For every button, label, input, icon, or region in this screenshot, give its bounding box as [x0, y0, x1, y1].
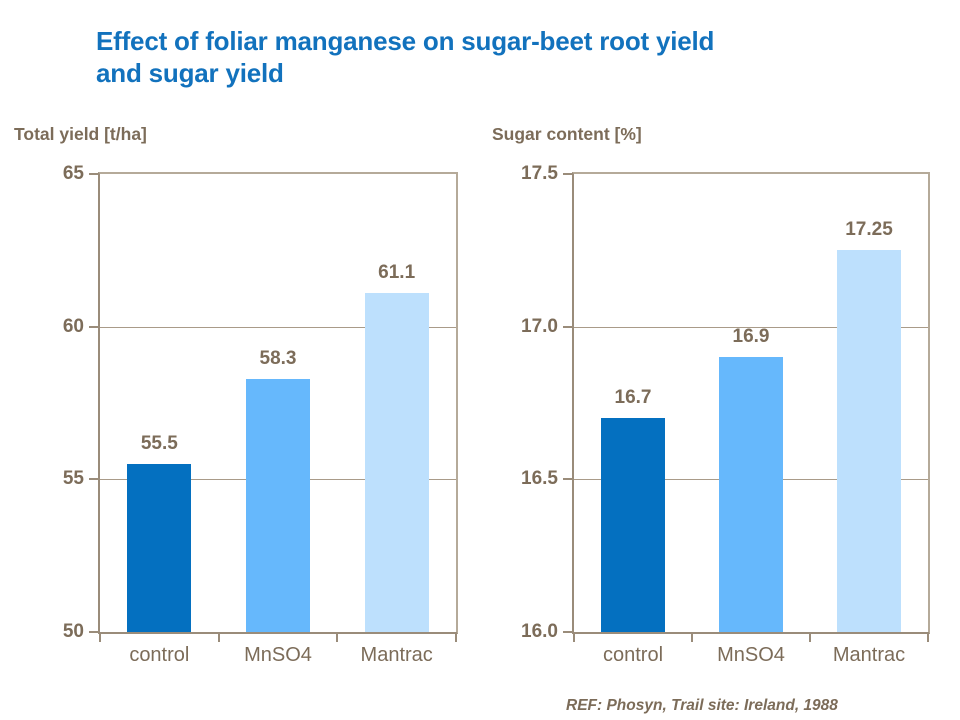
- bar-mnso4[interactable]: [246, 379, 310, 632]
- chart-title-total-yield: Total yield [t/ha]: [14, 124, 147, 145]
- bar-value-label: 55.5: [141, 433, 178, 455]
- slide-canvas: Effect of foliar manganese on sugar-beet…: [0, 0, 960, 720]
- y-axis-tick-mark: [563, 173, 572, 175]
- plot-inner-total-yield: 55.558.361.1: [100, 174, 456, 632]
- bar-value-label: 58.3: [260, 348, 297, 370]
- x-axis-tick-mark: [99, 632, 101, 642]
- x-axis-category-label: control: [603, 644, 663, 667]
- chart-panel-sugar-content: Sugar content [%] 16.716.917.25 16.016.5…: [480, 0, 960, 720]
- x-axis-tick-mark: [927, 632, 929, 642]
- bar-control[interactable]: [601, 418, 665, 632]
- plot-area-total-yield: 55.558.361.1: [98, 172, 458, 634]
- bar-value-label: 16.7: [615, 387, 652, 409]
- x-axis-tick-mark: [455, 632, 457, 642]
- chart-panel-total-yield: Total yield [t/ha] 55.558.361.1 50556065…: [0, 0, 500, 720]
- x-axis-tick-mark: [691, 632, 693, 642]
- bar-value-label: 17.25: [845, 219, 893, 241]
- bar-value-label: 16.9: [733, 326, 770, 348]
- y-axis-tick-mark: [89, 478, 98, 480]
- y-axis-tick-mark: [89, 326, 98, 328]
- bar-mantrac[interactable]: [837, 250, 901, 632]
- y-axis-tick-mark: [563, 326, 572, 328]
- y-axis-tick-label: 17.5: [521, 163, 558, 185]
- x-axis-category-label: MnSO4: [244, 644, 312, 667]
- x-axis-category-label: MnSO4: [717, 644, 785, 667]
- x-axis-tick-mark: [573, 632, 575, 642]
- y-axis-tick-label: 50: [63, 621, 84, 643]
- x-axis-category-label: control: [129, 644, 189, 667]
- bar-control[interactable]: [127, 464, 191, 632]
- chart-title-sugar-content: Sugar content [%]: [492, 124, 642, 145]
- bar-mnso4[interactable]: [719, 357, 783, 632]
- y-axis-tick-mark: [89, 631, 98, 633]
- y-axis-tick-label: 16.5: [521, 468, 558, 490]
- x-axis-tick-mark: [336, 632, 338, 642]
- y-axis-tick-mark: [89, 173, 98, 175]
- y-axis-tick-label: 55: [63, 468, 84, 490]
- bar-mantrac[interactable]: [365, 293, 429, 632]
- x-axis-category-label: Mantrac: [833, 644, 905, 667]
- y-axis-tick-label: 17.0: [521, 316, 558, 338]
- x-axis-tick-mark: [218, 632, 220, 642]
- y-axis-tick-mark: [563, 631, 572, 633]
- bar-value-label: 61.1: [378, 262, 415, 284]
- x-axis-tick-mark: [809, 632, 811, 642]
- x-axis-category-label: Mantrac: [361, 644, 433, 667]
- y-axis-tick-label: 65: [63, 163, 84, 185]
- plot-inner-sugar-content: 16.716.917.25: [574, 174, 928, 632]
- reference-note: REF: Phosyn, Trail site: Ireland, 1988: [566, 697, 838, 715]
- y-axis-tick-label: 16.0: [521, 621, 558, 643]
- y-axis-tick-label: 60: [63, 316, 84, 338]
- plot-area-sugar-content: 16.716.917.25: [572, 172, 930, 634]
- y-axis-tick-mark: [563, 478, 572, 480]
